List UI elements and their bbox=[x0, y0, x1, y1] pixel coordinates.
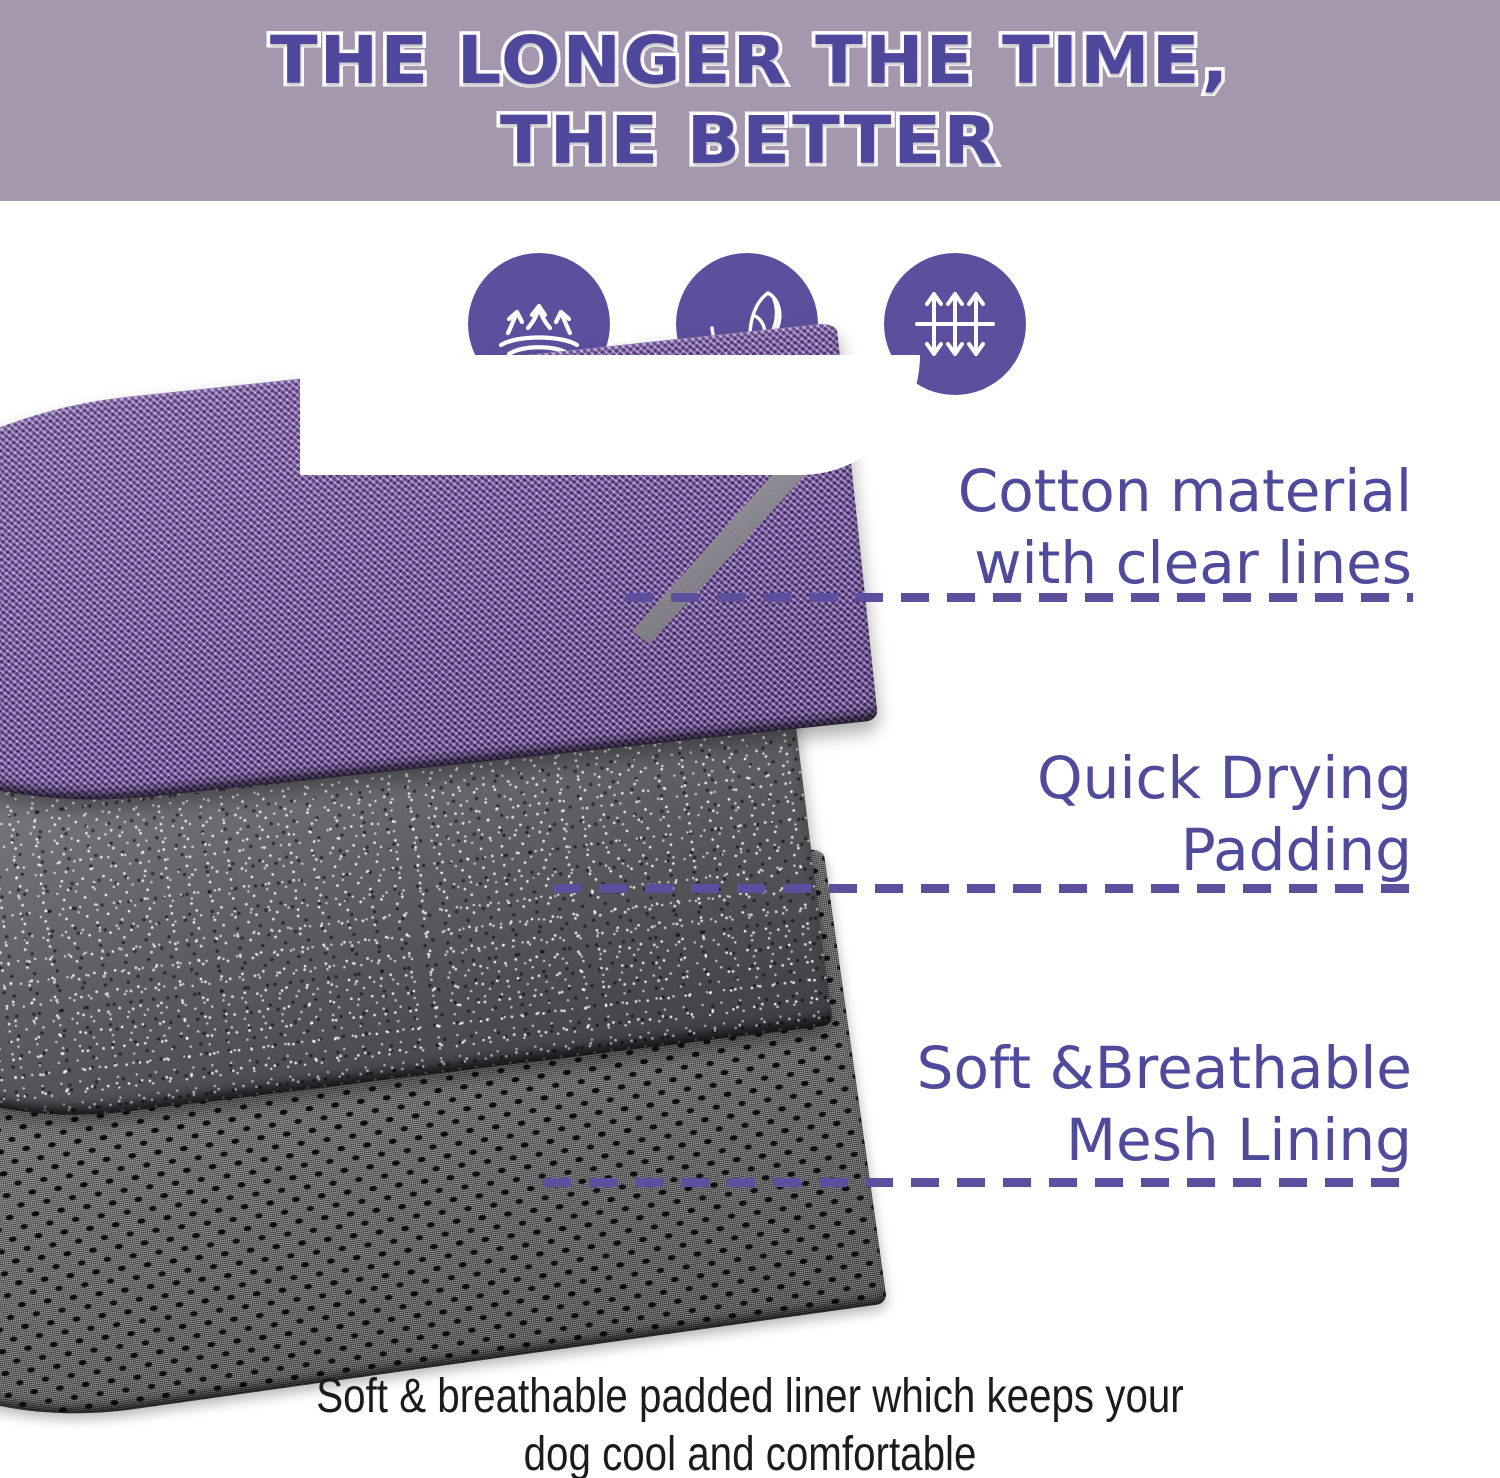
caption-line-1: Soft & breathable padded liner which kee… bbox=[120, 1368, 1380, 1426]
callout-cotton-line-2: with clear lines bbox=[792, 527, 1412, 599]
callout-padding-line-2: Padding bbox=[792, 814, 1412, 886]
callout-mesh-line-2: Mesh Lining bbox=[792, 1104, 1412, 1176]
callout-soft-breathable-mesh: Soft &Breathable Mesh Lining bbox=[792, 1032, 1412, 1176]
headline-line-1: THE LONGER THE TIME, bbox=[270, 22, 1231, 100]
callout-quick-drying-padding: Quick Drying Padding bbox=[792, 742, 1412, 886]
connector-line-mesh bbox=[543, 1178, 1413, 1187]
callout-padding-line-1: Quick Drying bbox=[792, 742, 1412, 814]
callout-mesh-line-1: Soft &Breathable bbox=[792, 1032, 1412, 1104]
header-banner: THE LONGER THE TIME, THE BETTER bbox=[0, 0, 1500, 201]
product-feature-infographic: THE LONGER THE TIME, THE BETTER bbox=[0, 0, 1500, 1478]
headline-line-2: THE BETTER bbox=[500, 102, 999, 180]
material-layer-stack bbox=[0, 355, 900, 1355]
callout-cotton-line-1: Cotton material bbox=[792, 455, 1412, 527]
caption-line-2: dog cool and comfortable bbox=[120, 1426, 1380, 1478]
header-banner-text-block: THE LONGER THE TIME, THE BETTER bbox=[0, 0, 1500, 201]
callout-cotton-material: Cotton material with clear lines bbox=[792, 455, 1412, 599]
bottom-caption: Soft & breathable padded liner which kee… bbox=[120, 1368, 1380, 1478]
